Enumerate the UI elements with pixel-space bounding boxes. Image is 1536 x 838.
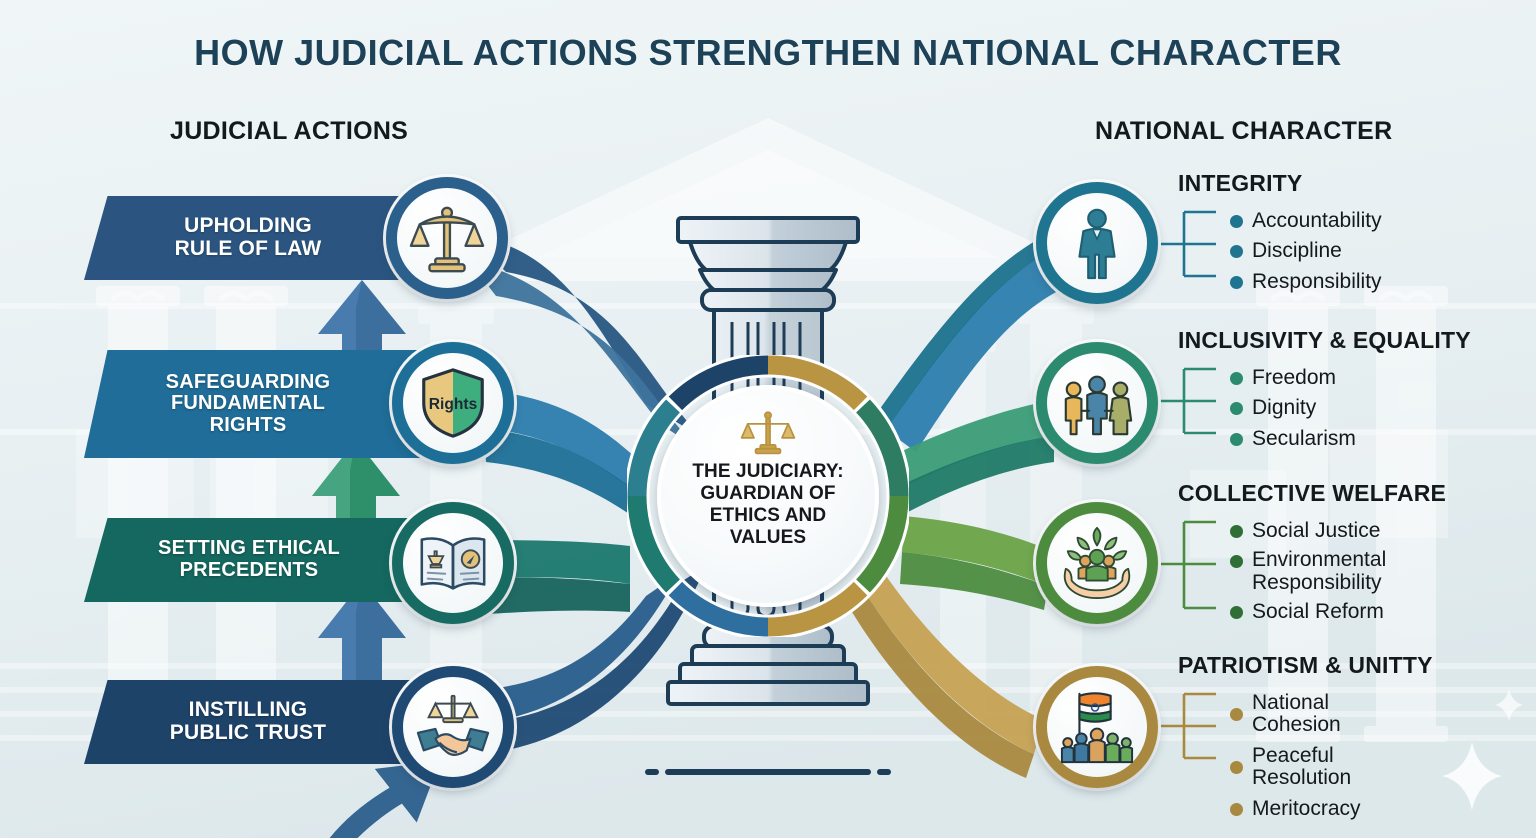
group-title-inclusivity: INCLUSIVITY & EQUALITY [1178,327,1471,354]
bullet-dot [1230,245,1243,258]
svg-text:Rights: Rights [429,396,478,413]
bullet-dot [1230,215,1243,228]
character-items-integrity: Accountability Discipline Responsibility [1230,210,1382,295]
bullet-dot [1230,372,1243,385]
banner-1-line2: RULE OF LAW [175,238,322,261]
banner-4-line1: INSTILLING [170,699,326,722]
list-item: Peaceful Resolution [1230,745,1361,790]
bullet-dot [1230,606,1243,619]
judicial-icon-node-1[interactable] [386,177,508,299]
bracket-connector-patriotism [1160,686,1230,766]
bracket-connector-integrity [1160,204,1230,284]
judicial-action-banner-3[interactable]: SETTING ETHICAL PRECEDENTS [84,518,420,602]
judicial-icon-node-4[interactable] [392,666,514,788]
banner-1-line1: UPHOLDING [175,215,322,238]
bullet-dot [1230,433,1243,446]
person-in-suit-icon [1058,204,1136,282]
bullet-dot [1230,708,1243,721]
banner-3-line1: SETTING ETHICAL [158,538,340,560]
list-item: Environmental Responsibility [1230,549,1386,594]
left-column-heading: JUDICIAL ACTIONS [170,117,408,146]
sparkle-decoration-large [1440,740,1504,812]
bullet-dot [1230,555,1243,568]
character-icon-node-2[interactable] [1036,342,1158,464]
list-item: Discipline [1230,240,1382,262]
character-items-welfare: Social Justice Environmental Responsibil… [1230,520,1386,626]
hub-label: THE JUDICIARY: GUARDIAN OF ETHICS AND VA… [657,461,879,549]
group-title-patriotism: PATRIOTISM & UNITTY [1178,652,1433,679]
group-title-integrity: INTEGRITY [1178,170,1302,197]
hands-holding-people-leaves-icon [1058,524,1136,602]
infographic-canvas: HOW JUDICIAL ACTIONS STRENGTHEN NATIONAL… [0,0,1536,838]
hub-core: THE JUDICIARY: GUARDIAN OF ETHICS AND VA… [657,385,879,607]
list-item: Social Justice [1230,520,1386,542]
bullet-dot [1230,761,1243,774]
list-item: Secularism [1230,428,1356,450]
character-icon-node-3[interactable] [1036,502,1158,624]
banner-2-line3: RIGHTS [166,415,331,437]
banner-4-line2: PUBLIC TRUST [170,722,326,745]
group-title-welfare: COLLECTIVE WELFARE [1178,480,1446,507]
list-item: Responsibility [1230,271,1382,293]
handshake-scales-icon [414,688,492,766]
judicial-action-banner-1[interactable]: UPHOLDING RULE OF LAW [84,196,420,280]
bracket-connector-welfare [1160,514,1230,616]
right-column-heading: NATIONAL CHARACTER [1095,117,1393,146]
indian-flag-crowd-icon [1058,688,1136,766]
list-item: National Cohesion [1230,692,1361,737]
judicial-icon-node-2[interactable]: Rights [392,342,514,464]
character-items-inclusivity: Freedom Dignity Secularism [1230,367,1356,452]
character-items-patriotism: National Cohesion Peaceful Resolution Me… [1230,692,1361,822]
list-item: Accountability [1230,210,1382,232]
scales-of-justice-icon [408,199,486,277]
character-icon-node-4[interactable] [1036,666,1158,788]
rights-shield-icon: Rights [414,364,492,442]
page-title: HOW JUDICIAL ACTIONS STRENGTHEN NATIONAL… [0,32,1536,74]
bullet-dot [1230,525,1243,538]
bullet-dot [1230,276,1243,289]
bracket-connector-inclusivity [1160,361,1230,441]
list-item: Social Reform [1230,601,1386,623]
character-icon-node-1[interactable] [1036,182,1158,304]
banner-2-line1: SAFEGUARDING [166,372,331,394]
three-people-holding-hands-icon [1058,364,1136,442]
sparkle-decoration-small [1494,688,1524,722]
list-item: Freedom [1230,367,1356,389]
judicial-action-banner-4[interactable]: INSTILLING PUBLIC TRUST [84,680,420,764]
open-book-scales-compass-icon [414,524,492,602]
list-item: Dignity [1230,397,1356,419]
progress-arrows-group [280,266,470,706]
banner-2-line2: FUNDAMENTAL [166,393,331,415]
banner-3-line2: PRECEDENTS [158,560,340,582]
judicial-icon-node-3[interactable] [392,502,514,624]
bullet-dot [1230,803,1243,816]
scales-of-justice-icon [740,411,796,457]
list-item: Meritocracy [1230,798,1361,820]
center-hub[interactable]: THE JUDICIARY: GUARDIAN OF ETHICS AND VA… [627,355,909,637]
judicial-action-banner-2[interactable]: SAFEGUARDING FUNDAMENTAL RIGHTS [84,350,420,458]
bullet-dot [1230,402,1243,415]
